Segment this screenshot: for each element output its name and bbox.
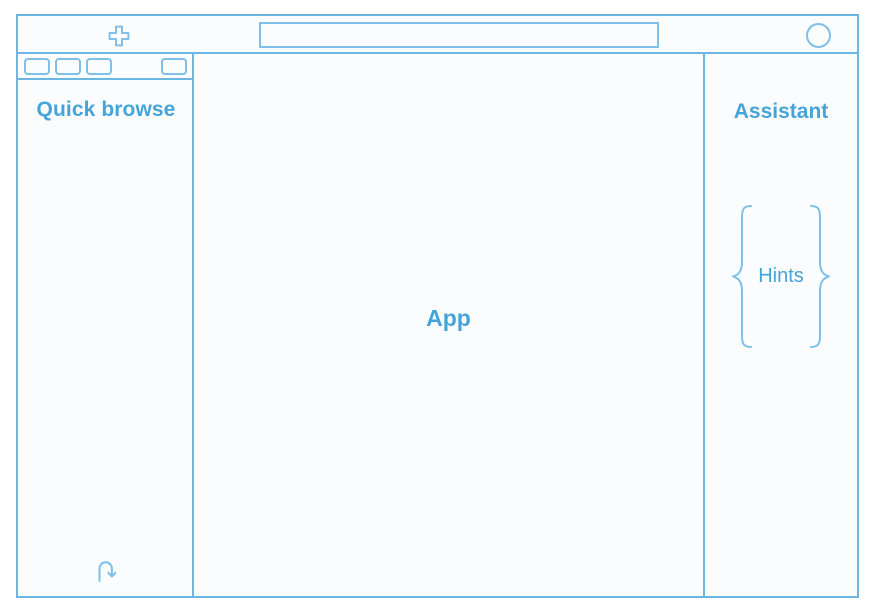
- app-panel: App: [194, 54, 705, 596]
- sidebar-tabstrip: [18, 54, 194, 80]
- hints-label: Hints: [756, 265, 806, 288]
- hints-group: Hints: [713, 204, 849, 349]
- sidebar-tab-4[interactable]: [161, 58, 187, 75]
- brace-right-icon: [806, 204, 832, 349]
- sidebar-tab-3[interactable]: [86, 58, 112, 75]
- browser-toolbar: [16, 14, 859, 54]
- app-body: Quick browse App Assistant Hints: [16, 54, 859, 598]
- app-title: App: [426, 305, 471, 332]
- assistant-title: Assistant: [705, 100, 857, 124]
- brace-left-icon: [730, 204, 756, 349]
- sidebar-footer[interactable]: [18, 556, 194, 586]
- assistant-panel: Assistant Hints: [705, 54, 857, 596]
- u-turn-arrow-icon: [91, 556, 121, 586]
- sidebar: Quick browse: [18, 54, 194, 596]
- wireframe-canvas: Quick browse App Assistant Hints: [16, 14, 859, 598]
- sidebar-title: Quick browse: [18, 96, 194, 124]
- new-tab-button[interactable]: [104, 22, 134, 50]
- sidebar-tab-2[interactable]: [55, 58, 81, 75]
- avatar[interactable]: [806, 23, 831, 48]
- plus-icon: [107, 24, 131, 48]
- sidebar-tab-1[interactable]: [24, 58, 50, 75]
- address-input[interactable]: [259, 22, 659, 48]
